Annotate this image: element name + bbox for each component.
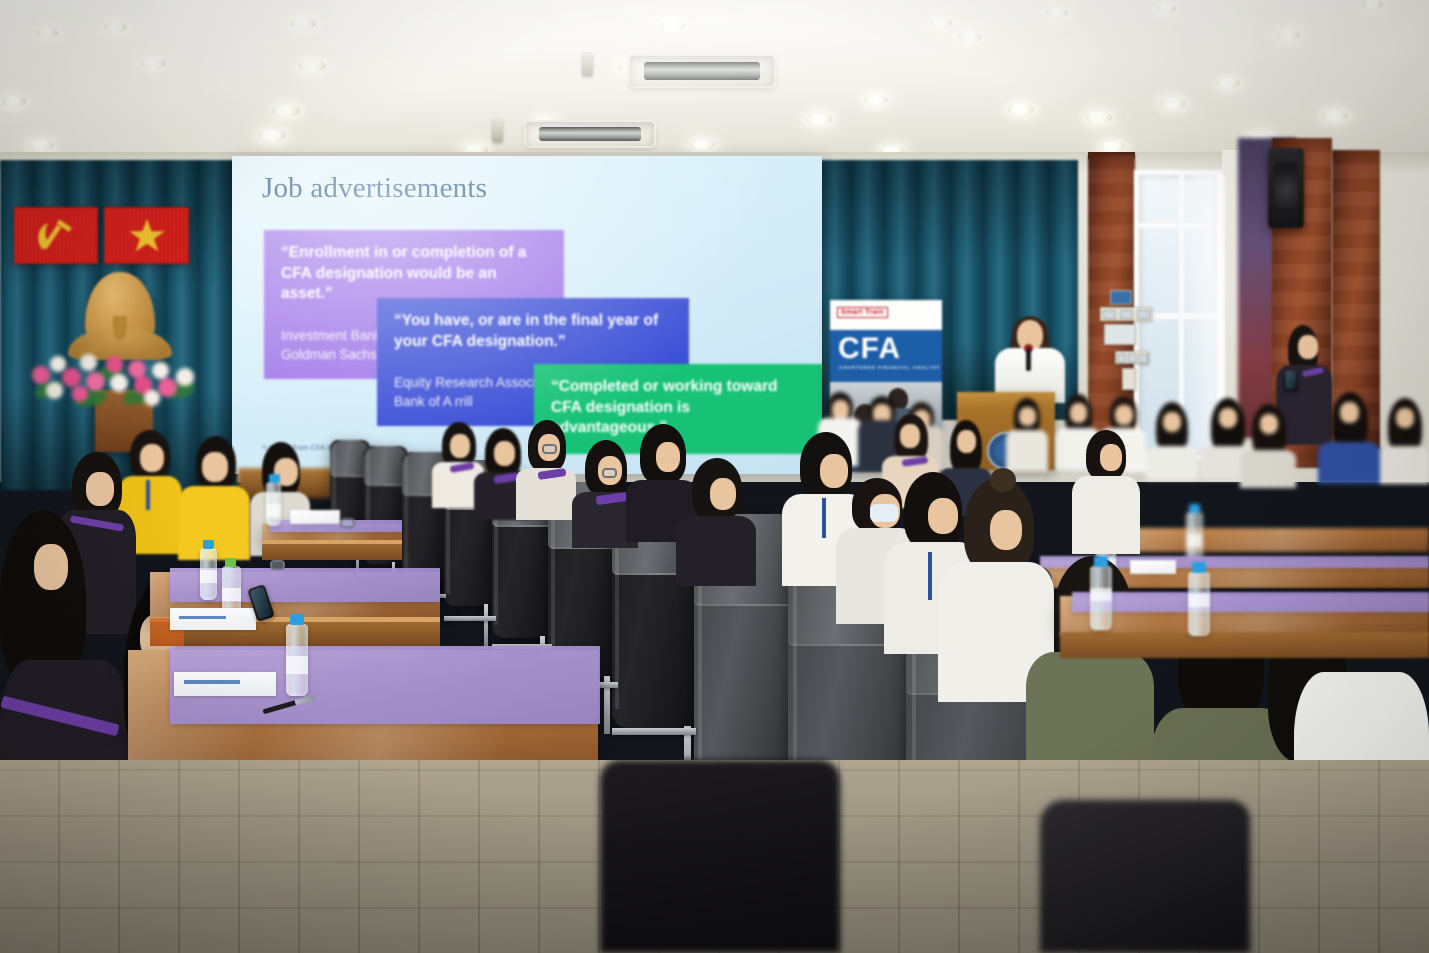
ceiling (0, 0, 1429, 165)
downlight-icon (660, 20, 686, 31)
water-bottle (200, 548, 217, 600)
smart-train-logo: Smart Train (837, 307, 888, 318)
wall-switch-strip[interactable] (1115, 351, 1149, 364)
downlight-icon (1086, 112, 1112, 123)
downlight-icon (1362, 0, 1383, 9)
downlight-icon (1276, 30, 1300, 40)
table-apron (1060, 632, 1429, 658)
chair-base (444, 616, 496, 621)
quote-attribution-line1: Investment Banki (281, 327, 547, 345)
downlight-icon (290, 18, 316, 29)
downlight-icon (1100, 142, 1125, 152)
student (178, 436, 250, 556)
quote-text: “Enrollment in or completion of a CFA de… (281, 243, 547, 305)
downlight-icon (104, 22, 127, 32)
wall-notice-plate (1104, 324, 1136, 345)
audience-member (1380, 398, 1429, 482)
water-bottle (1188, 572, 1210, 636)
downlight-icon (930, 18, 952, 28)
flower-arrangement (28, 342, 200, 410)
downlight-icon (864, 94, 888, 105)
slide-title: Job advertisements (262, 172, 487, 205)
handout (174, 672, 276, 696)
lanyard (928, 552, 932, 600)
vietnam-flag (104, 207, 189, 264)
table-apron (262, 542, 402, 560)
water-bottle (1090, 566, 1112, 630)
wall-speaker-icon (1268, 148, 1304, 228)
lanyard (822, 498, 826, 538)
slide-quote-card-purple: “Enrollment in or completion of a CFA de… (264, 230, 564, 379)
presenter (995, 320, 1065, 400)
ceiling-sensor-icon (492, 118, 503, 142)
ac-vent-icon (524, 120, 656, 148)
water-bottle (266, 482, 281, 526)
chair-foreground (600, 760, 840, 953)
audience-member (1318, 392, 1380, 482)
quote-attribution-line1: Equity Research Associa (394, 374, 672, 392)
audience-member (1240, 404, 1296, 484)
table-edge (262, 540, 402, 544)
ceiling-sensor-icon (582, 52, 593, 76)
yellow-star-icon (128, 217, 166, 255)
student (516, 420, 576, 516)
audience-member (1006, 398, 1048, 468)
slide-quote-card-blue: “You have, or are in the final year of y… (377, 298, 689, 426)
bag-foreground (1040, 800, 1250, 953)
downlight-icon (1216, 78, 1240, 88)
chair-leg (484, 604, 488, 648)
back-table (1100, 528, 1429, 552)
downlight-icon (690, 140, 715, 150)
downlight-icon (1160, 98, 1186, 109)
downlight-icon (1322, 110, 1348, 121)
water-bottle (286, 624, 308, 696)
downlight-icon (28, 140, 54, 151)
student (676, 458, 756, 584)
downlight-icon (272, 105, 300, 117)
camera-icon (1284, 369, 1298, 391)
downlight-icon (618, 62, 646, 74)
conference-hall-photo: Job advertisements “Enrollment in or com… (0, 0, 1429, 953)
downlight-icon (298, 60, 326, 72)
downlight-icon (2, 96, 26, 107)
quote-text: “You have, or are in the final year of y… (394, 311, 672, 352)
audience-member (1146, 402, 1198, 476)
party-flag (14, 207, 98, 264)
hair-bun (990, 468, 1016, 492)
hammer-and-sickle-icon (30, 216, 82, 256)
downlight-icon (532, 118, 559, 130)
downlight-icon (1008, 104, 1034, 115)
ac-vent-icon (628, 54, 776, 88)
table-runner (1072, 592, 1429, 612)
cfa-headline: CFA (838, 334, 901, 364)
downlight-icon (958, 32, 982, 42)
handout (170, 608, 256, 630)
handout (290, 510, 340, 524)
downlight-icon (36, 28, 58, 38)
downlight-icon (140, 58, 166, 69)
student (1072, 430, 1140, 552)
downlight-icon (1046, 8, 1068, 18)
wall-switch-strip[interactable] (1100, 307, 1152, 321)
downlight-icon (806, 114, 832, 125)
cfa-blue-panel: CFA CHARTERED FINANCIAL ANALYST (830, 330, 942, 382)
wall-control-panel[interactable] (1110, 290, 1132, 305)
downlight-icon (1156, 4, 1176, 13)
microphone-stem-icon (1026, 349, 1031, 371)
chair-base (612, 728, 696, 735)
lanyard (146, 480, 150, 510)
wall-outlet-icon (1122, 368, 1136, 390)
cfa-subtitle: CHARTERED FINANCIAL ANALYST (839, 365, 940, 370)
downlight-icon (258, 130, 286, 141)
quote-attribution-line2: Bank of A rrill (394, 393, 672, 411)
water-bottle (1186, 512, 1203, 562)
quote-attribution-line2: Goldman Sachs (281, 346, 547, 364)
